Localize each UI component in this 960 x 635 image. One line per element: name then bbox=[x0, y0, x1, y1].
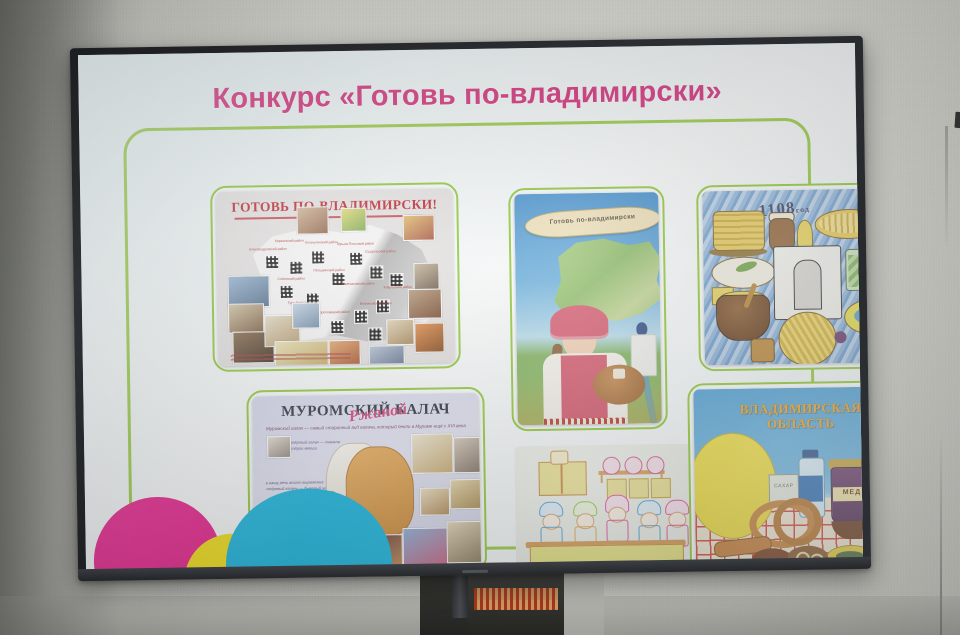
photo-vignette bbox=[0, 0, 960, 635]
photo-scene: Конкурс «Готовь по-владимирски» ГОТОВЬ П… bbox=[0, 0, 960, 635]
